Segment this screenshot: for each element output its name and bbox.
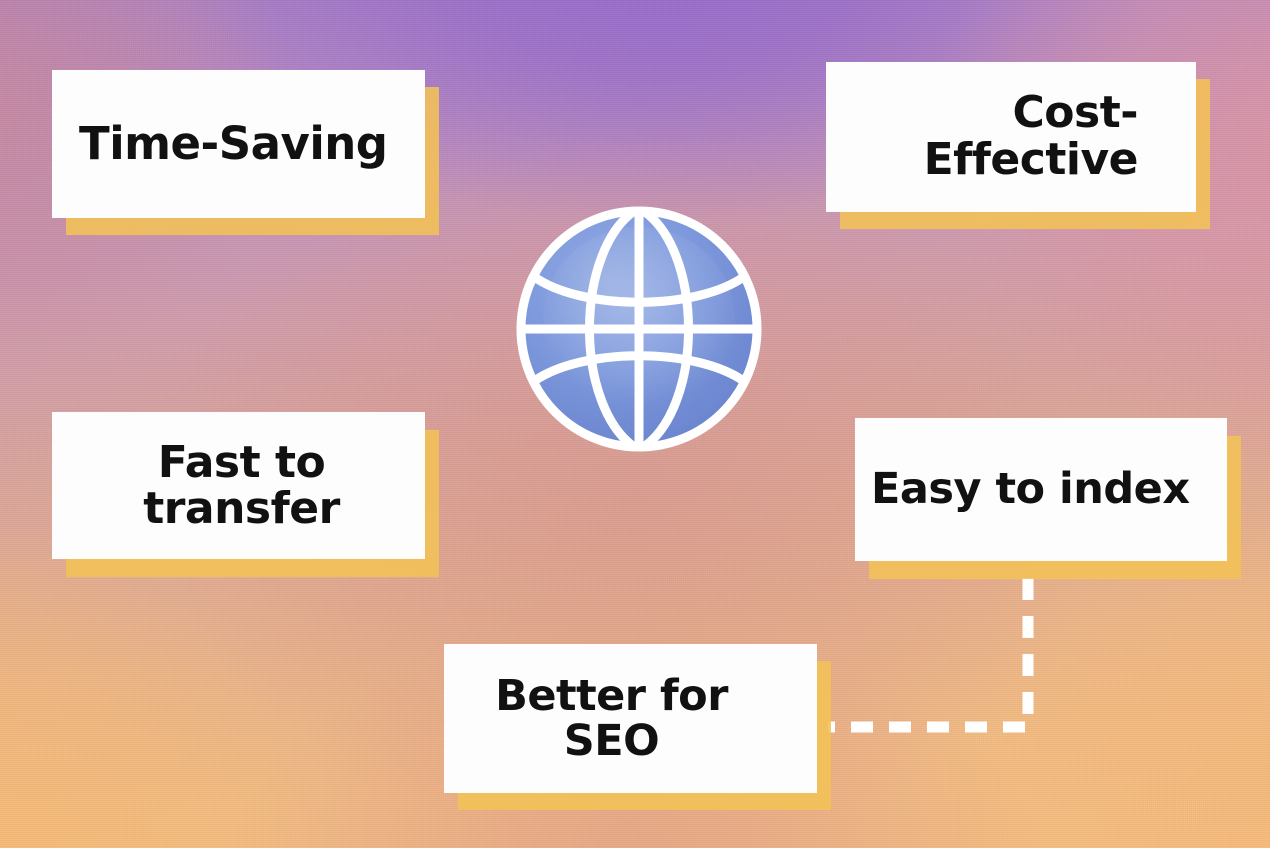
infographic-canvas: Time-Saving Cost- Effective — [0, 0, 1270, 848]
card-cost-effective[interactable]: Cost- Effective — [826, 62, 1196, 212]
card-label-cost-effective: Cost- Effective — [826, 90, 1196, 183]
card-better-seo[interactable]: Better for SEO — [444, 644, 817, 793]
card-label-easy-index: Easy to index — [855, 468, 1227, 512]
card-label-better-seo: Better for SEO — [444, 674, 817, 763]
card-fast-transfer[interactable]: Fast to transfer — [52, 412, 425, 559]
card-label-fast-transfer: Fast to transfer — [52, 440, 425, 532]
globe-icon — [511, 201, 767, 457]
card-time-saving[interactable]: Time-Saving — [52, 70, 425, 218]
card-easy-index[interactable]: Easy to index — [855, 418, 1227, 561]
card-label-time-saving: Time-Saving — [52, 121, 425, 167]
